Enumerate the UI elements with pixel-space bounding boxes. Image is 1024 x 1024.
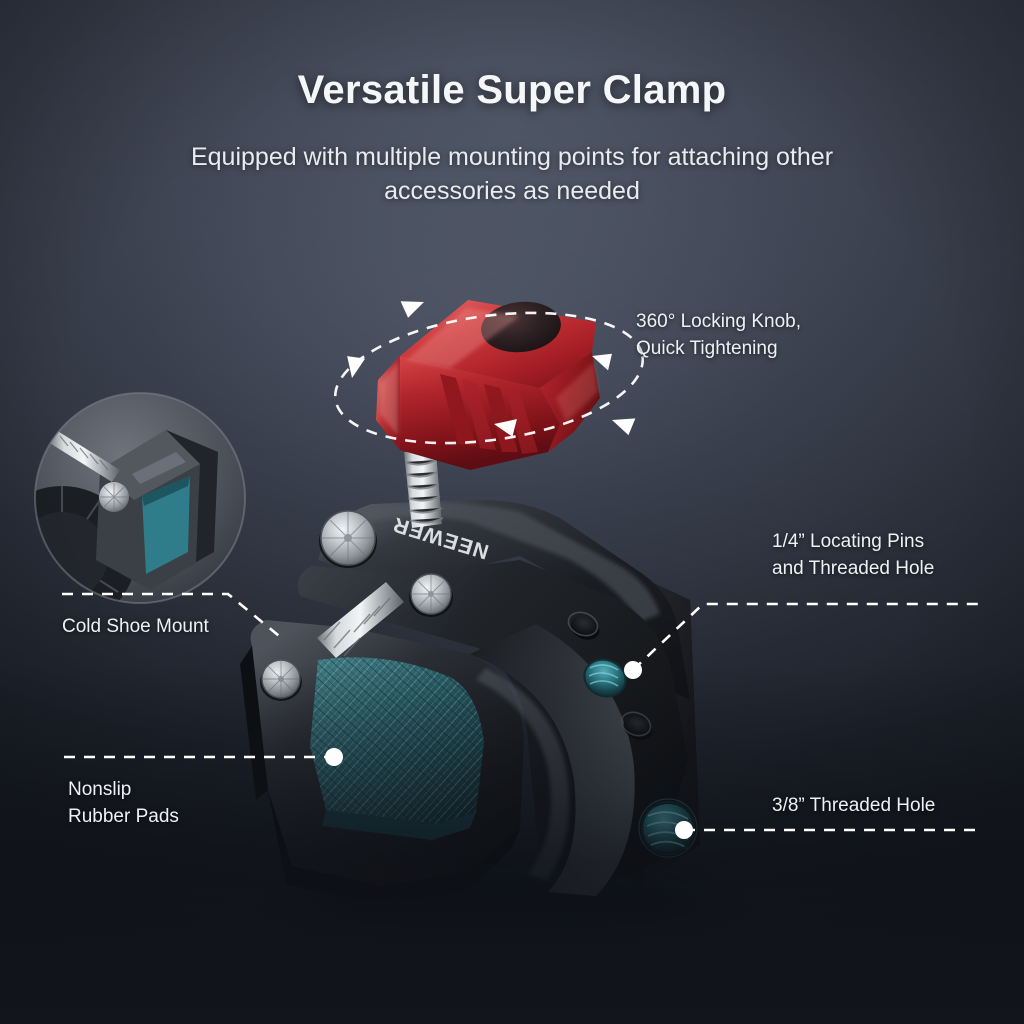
page-subtitle: Equipped with multiple mounting points f… — [152, 140, 872, 208]
anchor-dot-three-eighths — [675, 821, 693, 839]
product-infographic: NEEWER — [0, 0, 1024, 1024]
callout-label-cold-shoe: Cold Shoe Mount — [62, 613, 209, 640]
callout-label-three-eighths: 3/8” Threaded Hole — [772, 792, 935, 819]
anchor-dot-rubber-pads — [325, 748, 343, 766]
callout-label-locking-knob: 360° Locking Knob, Quick Tightening — [636, 308, 801, 362]
callout-label-quarter-inch: 1/4” Locating Pins and Threaded Hole — [772, 528, 934, 582]
leader-quarter-inch — [633, 604, 980, 670]
callout-label-rubber-pads: Nonslip Rubber Pads — [68, 776, 179, 830]
anchor-dot-quarter-inch — [624, 661, 642, 679]
page-title: Versatile Super Clamp — [0, 68, 1024, 113]
